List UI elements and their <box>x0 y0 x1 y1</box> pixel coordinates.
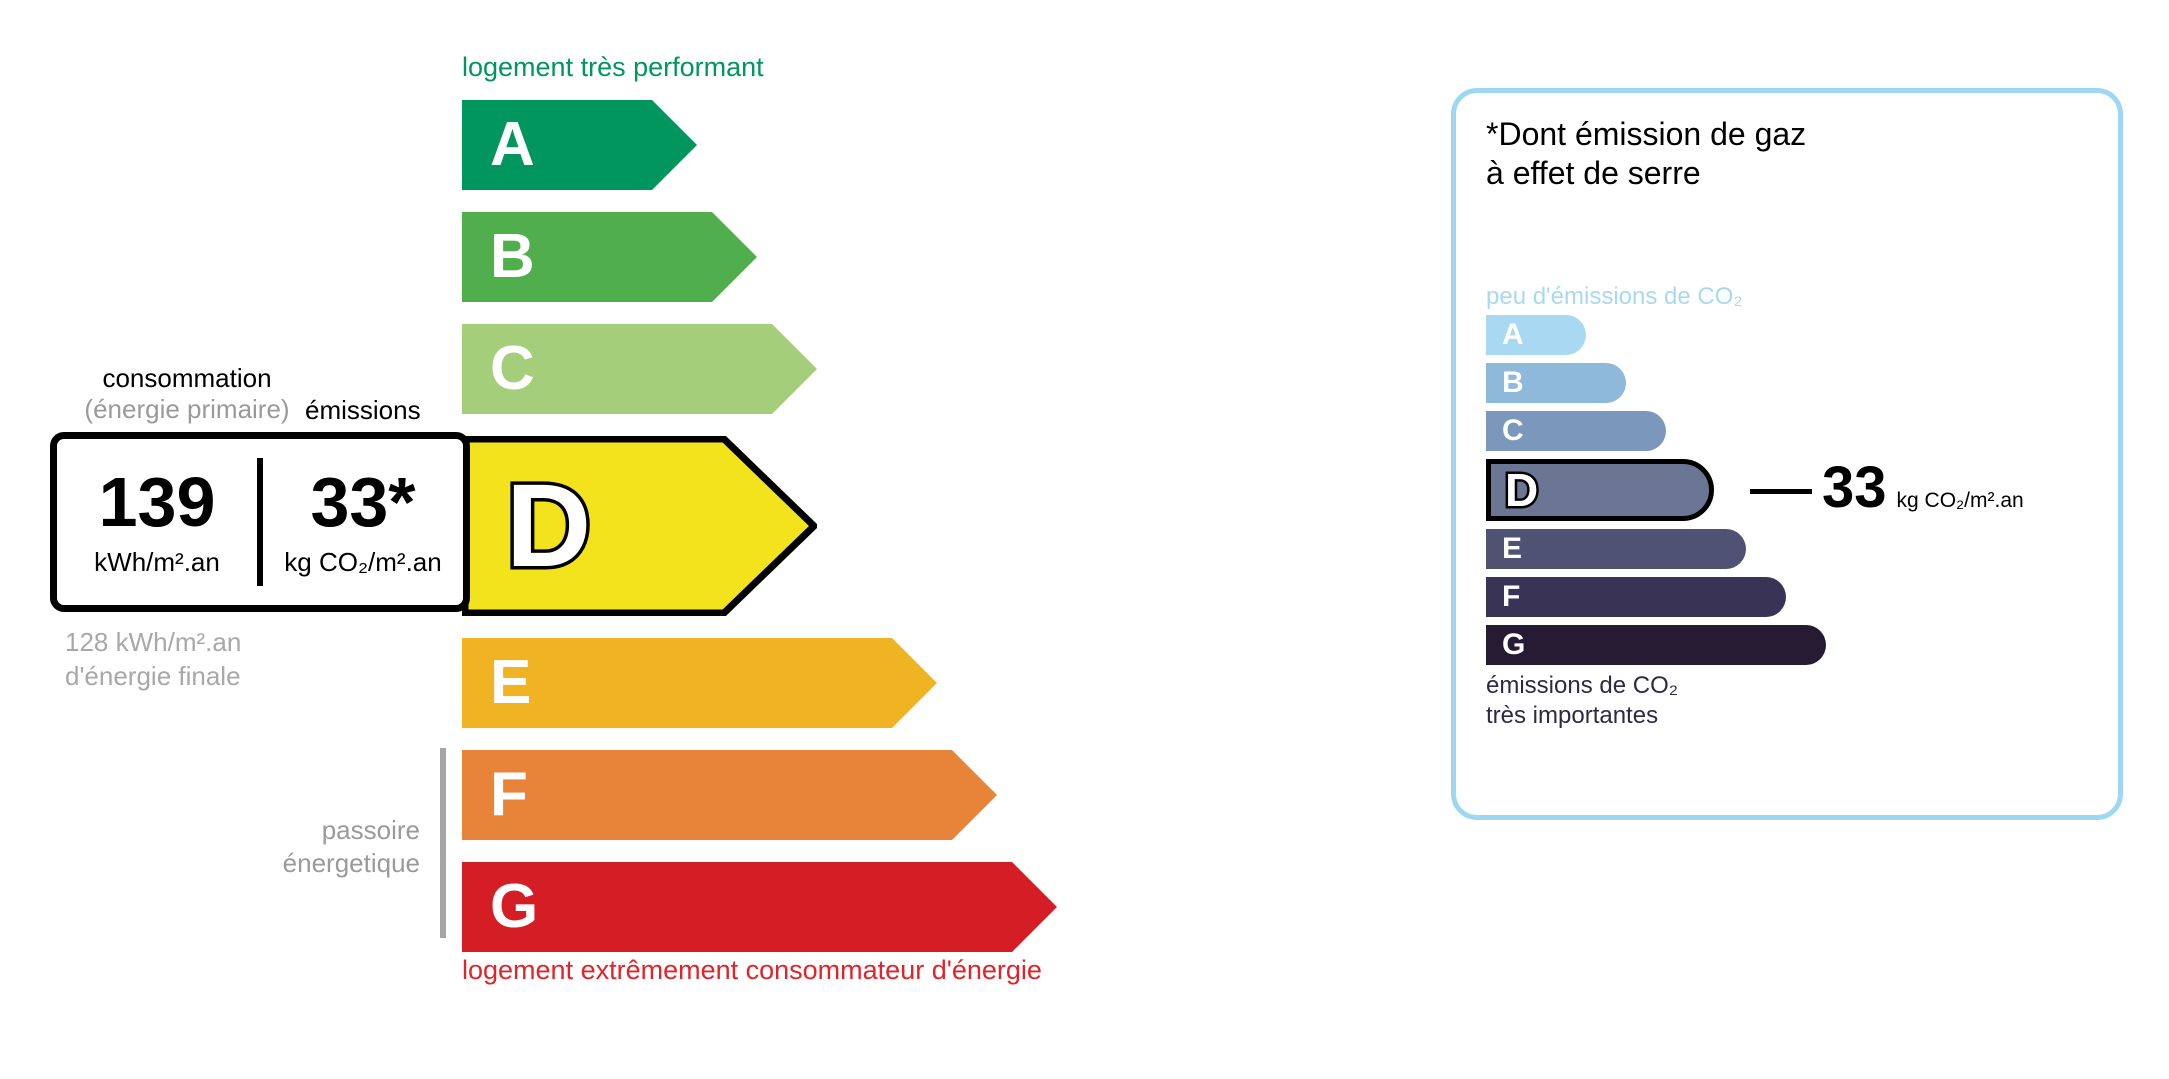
consumption-unit: kWh/m².an <box>94 547 220 578</box>
co2-bar-f[interactable]: F <box>1486 577 1786 617</box>
co2-title-line2: à effet de serre <box>1486 154 1806 193</box>
energy-bar-letter-f: F <box>490 764 528 826</box>
co2-bar-row-g: G <box>1486 625 1886 665</box>
energy-bar-b[interactable]: B <box>462 212 535 302</box>
co2-value-number: 33 <box>1822 459 1887 517</box>
arrow-shape-icon <box>462 750 997 840</box>
co2-bar-letter-d: D <box>1505 463 1538 517</box>
co2-bar-letter-b: B <box>1502 368 1524 398</box>
energy-bar-row-a: A <box>462 100 1262 190</box>
co2-bar-letter-e: E <box>1502 534 1522 564</box>
energy-bar-f[interactable]: F <box>462 750 528 840</box>
consumption-value-cell: 139 kWh/m².an <box>57 467 257 578</box>
co2-top-caption: peu d'émissions de CO₂ <box>1486 283 1743 311</box>
final-energy-text: d'énergie finale <box>65 660 241 694</box>
final-energy-value: 128 kWh/m².an <box>65 626 241 660</box>
co2-bar-a[interactable]: A <box>1486 315 1586 355</box>
energy-bar-row-g: G <box>462 862 1262 952</box>
energy-bar-row-c: C <box>462 324 1262 414</box>
energy-bar-row-d: D <box>462 436 1262 616</box>
dpe-diagram: logement très performant A B <box>0 0 2169 1079</box>
co2-bottom-caption: émissions de CO₂ très importantes <box>1486 671 1678 731</box>
energy-bar-row-e: E <box>462 638 1262 728</box>
energy-bar-letter-d: D <box>506 458 591 594</box>
emission-value-cell: 33* kg CO₂/m².an <box>263 467 463 578</box>
co2-title-line1: *Dont émission de gaz <box>1486 115 1806 154</box>
emission-unit: kg CO₂/m².an <box>284 547 441 578</box>
energy-bar-e[interactable]: E <box>462 638 531 728</box>
co2-bar-letter-f: F <box>1502 582 1520 612</box>
energy-bars-group: A B C <box>462 100 1262 974</box>
co2-bars-group: A B C D 33 kg CO₂/m².an <box>1486 315 1886 673</box>
energy-bar-g[interactable]: G <box>462 862 538 952</box>
co2-bottom-caption-line1: émissions de CO₂ <box>1486 671 1678 701</box>
co2-bar-d-selected[interactable]: D <box>1486 459 1714 521</box>
co2-leader-line <box>1750 489 1812 494</box>
energy-bar-letter-a: A <box>490 114 535 176</box>
co2-bar-letter-g: G <box>1502 630 1525 660</box>
scale-top-caption: logement très performant <box>462 52 764 83</box>
consumption-label-sub: (énergie primaire) <box>62 394 312 425</box>
energy-bar-d-selected[interactable]: D <box>462 436 591 616</box>
emission-value: 33* <box>310 467 415 537</box>
scale-bottom-caption: logement extrêmement consommateur d'éner… <box>462 955 1042 986</box>
emissions-label: émissions <box>305 395 421 426</box>
co2-bar-row-c: C <box>1486 411 1886 451</box>
co2-bottom-caption-line2: très importantes <box>1486 701 1678 731</box>
co2-bar-row-b: B <box>1486 363 1886 403</box>
co2-bar-b[interactable]: B <box>1486 363 1626 403</box>
energy-bar-row-b: B <box>462 212 1262 302</box>
energy-bar-letter-c: C <box>490 338 535 400</box>
co2-bar-g[interactable]: G <box>1486 625 1826 665</box>
energy-bar-row-f: F <box>462 750 1262 840</box>
co2-value-unit: kg CO₂/m².an <box>1897 489 2024 513</box>
rating-value-box: 139 kWh/m².an 33* kg CO₂/m².an <box>50 432 470 612</box>
co2-panel-title: *Dont émission de gaz à effet de serre <box>1486 115 1806 193</box>
energy-bar-letter-e: E <box>490 652 531 714</box>
co2-emissions-panel: *Dont émission de gaz à effet de serre p… <box>1451 88 2123 820</box>
consumption-label: consommation (énergie primaire) <box>62 363 312 424</box>
passoire-label-line2: énergetique <box>150 847 420 880</box>
co2-bar-letter-c: C <box>1502 416 1524 446</box>
energy-bar-c[interactable]: C <box>462 324 535 414</box>
energy-bar-letter-g: G <box>490 876 538 938</box>
arrow-shape-icon <box>462 638 937 728</box>
co2-value-readout: 33 kg CO₂/m².an <box>1822 459 2024 517</box>
energy-bar-letter-b: B <box>490 226 535 288</box>
final-energy-label: 128 kWh/m².an d'énergie finale <box>65 626 241 694</box>
consumption-label-main: consommation <box>62 363 312 394</box>
arrow-shape-icon <box>462 862 1057 952</box>
co2-bar-letter-a: A <box>1502 320 1524 350</box>
passoire-label-line1: passoire <box>150 814 420 847</box>
co2-bar-row-e: E <box>1486 529 1886 569</box>
consumption-value: 139 <box>99 467 216 537</box>
passoire-bracket <box>440 748 446 938</box>
co2-bar-row-f: F <box>1486 577 1886 617</box>
energy-bar-a[interactable]: A <box>462 100 535 190</box>
co2-bar-c[interactable]: C <box>1486 411 1666 451</box>
co2-bar-row-d: D 33 kg CO₂/m².an <box>1486 459 1886 521</box>
co2-bar-row-a: A <box>1486 315 1886 355</box>
passoire-label: passoire énergetique <box>150 814 420 879</box>
co2-bar-e[interactable]: E <box>1486 529 1746 569</box>
energy-performance-scale: logement très performant A B <box>0 0 1400 1079</box>
